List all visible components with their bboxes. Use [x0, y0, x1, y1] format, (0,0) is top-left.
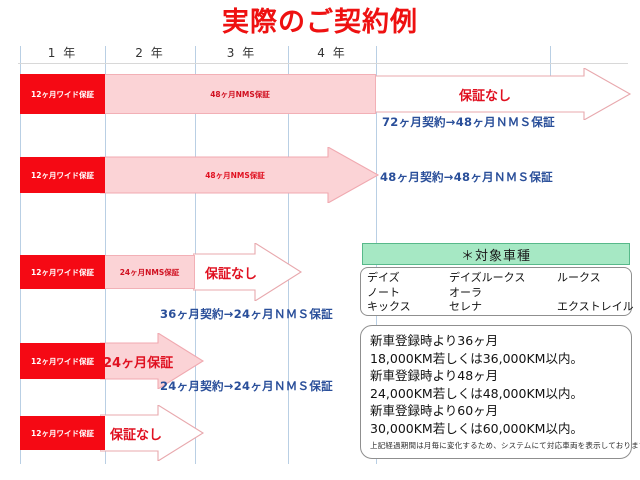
year-label-1: 1 年: [20, 44, 105, 61]
row-24-wide-label: 12ヶ月ワイド保証: [31, 356, 94, 367]
model-row: デイズデイズルークスルークス: [367, 271, 631, 286]
row-12-wide-bar: 12ヶ月ワイド保証: [20, 416, 105, 450]
page-title: 実際のご契約例: [0, 8, 640, 38]
model-name: オーラ: [449, 286, 557, 301]
row-36-arrow-label: 保証なし: [198, 263, 264, 282]
year-label-3: 3 年: [195, 44, 288, 61]
row-12-arrow-label: 保証なし: [103, 424, 169, 443]
model-row: キックスセレナエクストレイル: [367, 300, 631, 315]
contract-example-diagram: 実際のご契約例 1 年 2 年 3 年 4 年 保証なし 48ヶ月NMS保証 1…: [0, 0, 640, 480]
row-48-wide-bar: 12ヶ月ワイド保証: [20, 157, 105, 193]
note-line: 30,000KM若しくは60,000KM以内。: [370, 420, 625, 438]
row-36-caption: 36ヶ月契約→24ヶ月ＮＭＳ保証: [160, 306, 333, 322]
row-24-caption: 24ヶ月契約→24ヶ月ＮＭＳ保証: [160, 378, 333, 394]
row-36-nms-bar: 24ヶ月NMS保証: [104, 255, 195, 289]
target-models-header: ＊対象車種: [362, 243, 630, 265]
model-name: エクストレイル: [557, 300, 634, 315]
timeline-axis: [18, 63, 628, 64]
model-name: キックス: [367, 300, 449, 315]
note-line: 新車登録時より48ヶ月: [370, 367, 625, 385]
row-72-caption: 72ヶ月契約→48ヶ月ＮＭＳ保証: [382, 114, 555, 130]
row-48-wide-label: 12ヶ月ワイド保証: [31, 170, 94, 181]
row-36-wide-bar: 12ヶ月ワイド保証: [20, 255, 105, 289]
note-line: 新車登録時より60ヶ月: [370, 402, 625, 420]
row-36-nms-label: 24ヶ月NMS保証: [120, 267, 180, 278]
model-name: ルークス: [557, 271, 601, 286]
row-48-arrow-nms-label: 48ヶ月NMS保証: [150, 170, 320, 181]
row-48-caption: 48ヶ月契約→48ヶ月ＮＭＳ保証: [380, 169, 553, 185]
row-24-arrow-label: 24ヶ月保証: [103, 352, 169, 371]
model-name: セレナ: [449, 300, 557, 315]
model-name: デイズルークス: [449, 271, 557, 286]
row-72-nms-label: 48ヶ月NMS保証: [210, 89, 270, 100]
row-36-wide-label: 12ヶ月ワイド保証: [31, 267, 94, 278]
year-label-2: 2 年: [105, 44, 195, 61]
model-name: デイズ: [367, 271, 449, 286]
row-72-arrow-label: 保証なし: [400, 85, 570, 104]
target-models-header-label: ＊対象車種: [461, 245, 531, 264]
row-72-wide-bar: 12ヶ月ワイド保証: [20, 74, 105, 114]
model-name: ノート: [367, 286, 449, 301]
row-12-wide-label: 12ヶ月ワイド保証: [31, 428, 94, 439]
note-line: 24,000KM若しくは48,000KM以内。: [370, 385, 625, 403]
row-72-wide-label: 12ヶ月ワイド保証: [31, 89, 94, 100]
conditions-note-box: 新車登録時より36ヶ月 18,000KM若しくは36,000KM以内。 新車登録…: [360, 325, 632, 459]
model-row: ノートオーラ: [367, 286, 631, 301]
note-fine-print: 上記経過期間は月毎に変化するため、システムにて対応車両を表示しております: [370, 440, 625, 451]
row-24-wide-bar: 12ヶ月ワイド保証: [20, 343, 105, 379]
row-72-nms-bar: 48ヶ月NMS保証: [104, 74, 376, 114]
target-models-list: デイズデイズルークスルークス ノートオーラ キックスセレナエクストレイル: [360, 267, 632, 316]
year-label-4: 4 年: [288, 44, 376, 61]
note-line: 新車登録時より36ヶ月: [370, 332, 625, 350]
note-line: 18,000KM若しくは36,000KM以内。: [370, 350, 625, 368]
